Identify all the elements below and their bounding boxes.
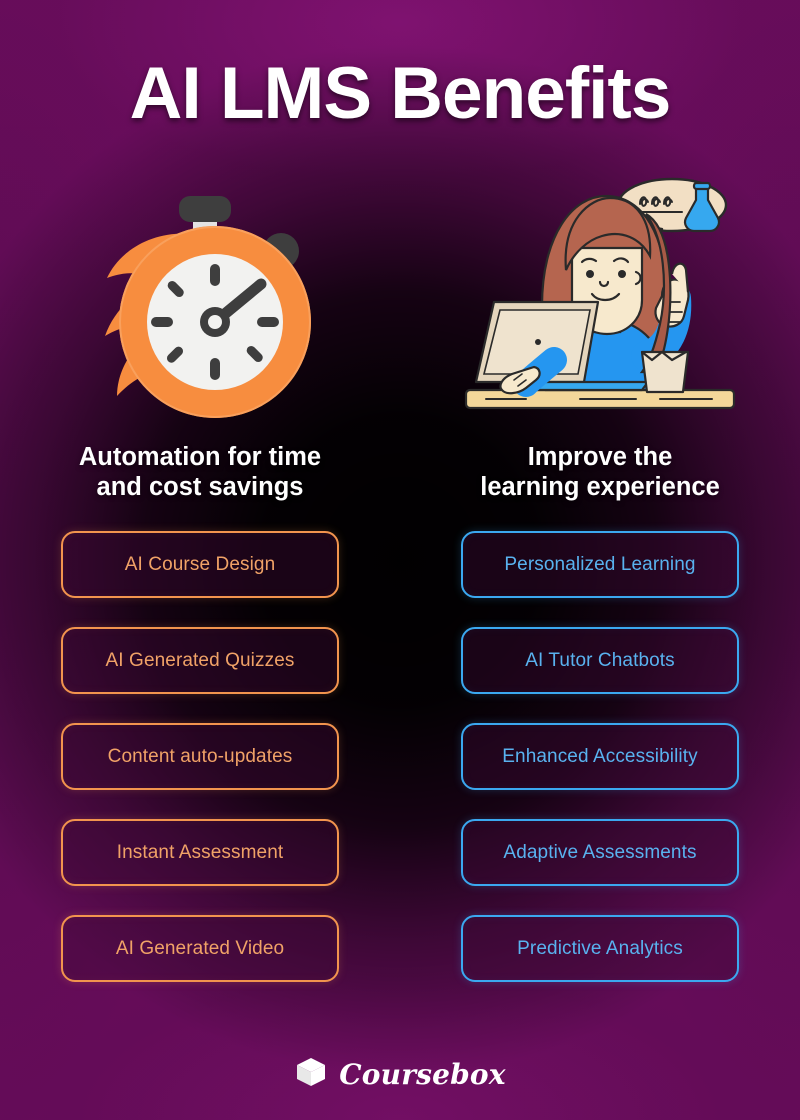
benefit-list-learning-experience: Personalized Learning AI Tutor Chatbots … [461, 531, 739, 982]
benefit-columns: Automation for time and cost savings AI … [0, 168, 800, 982]
benefit-list-automation: AI Course Design AI Generated Quizzes Co… [61, 531, 339, 982]
cube-box-icon [294, 1055, 328, 1094]
benefit-pill[interactable]: AI Tutor Chatbots [461, 627, 739, 694]
infographic-poster: AI LMS Benefits [0, 0, 800, 1120]
benefit-pill[interactable]: Predictive Analytics [461, 915, 739, 982]
benefit-pill[interactable]: Instant Assessment [61, 819, 339, 886]
column-heading-learning-experience: Improve the learning experience [475, 442, 725, 502]
column-heading-automation: Automation for time and cost savings [75, 442, 325, 502]
stopwatch-with-flames-icon [0, 168, 400, 430]
benefit-pill[interactable]: Content auto-updates [61, 723, 339, 790]
benefit-pill[interactable]: Enhanced Accessibility [461, 723, 739, 790]
woman-at-laptop-icon [400, 168, 800, 430]
column-learning-experience: Improve the learning experience Personal… [400, 168, 800, 982]
benefit-pill[interactable]: Personalized Learning [461, 531, 739, 598]
page-title: AI LMS Benefits [0, 52, 800, 135]
benefit-pill[interactable]: AI Generated Video [61, 915, 339, 982]
benefit-pill[interactable]: Adaptive Assessments [461, 819, 739, 886]
column-automation: Automation for time and cost savings AI … [0, 168, 400, 982]
benefit-pill[interactable]: AI Course Design [61, 531, 339, 598]
footer-branding: Coursebox [0, 1055, 800, 1094]
benefit-pill[interactable]: AI Generated Quizzes [61, 627, 339, 694]
brand-name: Coursebox [339, 1058, 505, 1091]
